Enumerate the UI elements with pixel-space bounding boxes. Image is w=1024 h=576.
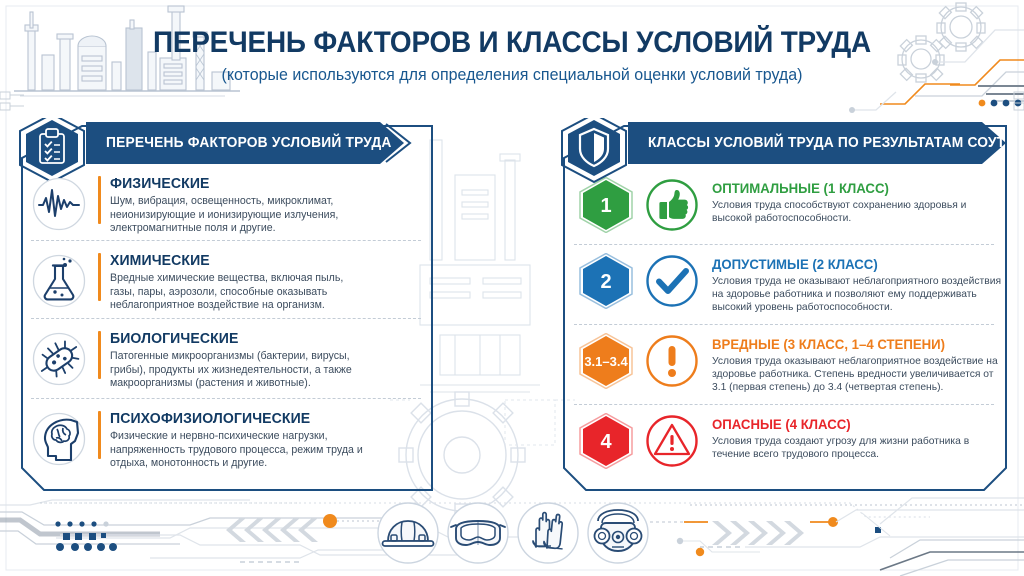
- left-panel-title: ПЕРЕЧЕНЬ ФАКТОРОВ УСЛОВИЙ ТРУДА: [106, 135, 391, 151]
- factor-desc: Патогенные микроорганизмы (бактерии, вир…: [110, 350, 372, 391]
- class-badge-text: 4: [600, 431, 612, 453]
- warning-triangle-icon: [644, 413, 700, 469]
- class-title: ОПАСНЫЕ (4 КЛАСС): [712, 417, 851, 432]
- class-desc: Условия труда создают угрозу для жизни р…: [712, 435, 1002, 461]
- thumbs-up-icon: [644, 177, 700, 233]
- chevrons-left-icon: [226, 518, 318, 542]
- factor-title: БИОЛОГИЧЕСКИЕ: [110, 331, 238, 347]
- factor-title: ФИЗИЧЕСКИЕ: [110, 176, 210, 192]
- class-title: ДОПУСТИМЫЕ (2 КЛАСС): [712, 257, 878, 272]
- page-title: ПЕРЕЧЕНЬ ФАКТОРОВ И КЛАССЫ УСЛОВИЙ ТРУДА: [36, 26, 988, 60]
- class-badge-text: 2: [600, 271, 611, 293]
- checkmark-icon: [644, 253, 700, 309]
- safety-goggles-icon: [446, 501, 510, 565]
- class-badge-hexagon: 1: [576, 177, 636, 233]
- row-divider: [574, 404, 994, 405]
- class-desc: Условия труда не оказывают неблагоприятн…: [712, 275, 1002, 315]
- bottom-circuit-band: [0, 498, 1024, 576]
- work-gloves-icon: [516, 501, 580, 565]
- factor-title: ХИМИЧЕСКИЕ: [110, 253, 210, 269]
- accent-bar: [98, 411, 101, 459]
- page-header: ПЕРЕЧЕНЬ ФАКТОРОВ И КЛАССЫ УСЛОВИЙ ТРУДА…: [0, 0, 1024, 112]
- row-divider: [31, 398, 421, 399]
- class-desc: Условия труда способствуют сохранению зд…: [712, 199, 990, 225]
- hard-hat-icon: [376, 501, 440, 565]
- row-divider: [31, 240, 421, 241]
- class-title: ОПТИМАЛЬНЫЕ (1 КЛАСС): [712, 181, 889, 196]
- flask-icon: [31, 253, 87, 309]
- class-badge-hexagon: 3.1–3.4: [576, 333, 636, 389]
- bacteria-icon: [31, 331, 87, 387]
- respirator-mask-icon: [586, 501, 650, 565]
- row-divider: [31, 318, 421, 319]
- waveform-icon: [31, 176, 87, 232]
- accent-bar: [98, 176, 101, 224]
- row-divider: [574, 244, 994, 245]
- infographic-root: ПЕРЕЧЕНЬ ФАКТОРОВ И КЛАССЫ УСЛОВИЙ ТРУДА…: [0, 0, 1024, 576]
- right-panel: КЛАССЫ УСЛОВИЙ ТРУДА ПО РЕЗУЛЬТАТАМ СОУТ…: [556, 118, 1012, 498]
- class-desc: Условия труда оказывают неблагоприятное …: [712, 355, 1008, 395]
- page-subtitle: (которые используются для определения сп…: [15, 66, 1008, 85]
- chevrons-right-icon: [712, 521, 804, 545]
- factor-desc: Шум, вибрация, освещенность, микроклимат…: [110, 195, 368, 236]
- accent-bar: [98, 331, 101, 379]
- accent-bar: [98, 253, 101, 301]
- exclamation-circle-icon: [644, 333, 700, 389]
- factor-desc: Вредные химические вещества, включая пыл…: [110, 272, 368, 313]
- factor-title: ПСИХОФИЗИОЛОГИЧЕСКИЕ: [110, 411, 310, 427]
- head-brain-icon: [31, 411, 87, 467]
- left-panel: ПЕРЕЧЕНЬ ФАКТОРОВ УСЛОВИЙ ТРУДА ФИЗИЧЕСК…: [14, 118, 438, 498]
- center-plant-outline: [420, 140, 540, 392]
- row-divider: [574, 324, 994, 325]
- class-badge-text: 1: [600, 195, 611, 217]
- class-title: ВРЕДНЫЕ (3 КЛАСС, 1–4 СТЕПЕНИ): [712, 337, 945, 352]
- class-badge-text: 3.1–3.4: [584, 354, 628, 369]
- factor-desc: Физические и нервно-психические нагрузки…: [110, 430, 372, 471]
- right-panel-title: КЛАССЫ УСЛОВИЙ ТРУДА ПО РЕЗУЛЬТАТАМ СОУТ: [648, 135, 1005, 151]
- class-badge-hexagon: 2: [576, 253, 636, 309]
- class-badge-hexagon: 4: [576, 413, 636, 469]
